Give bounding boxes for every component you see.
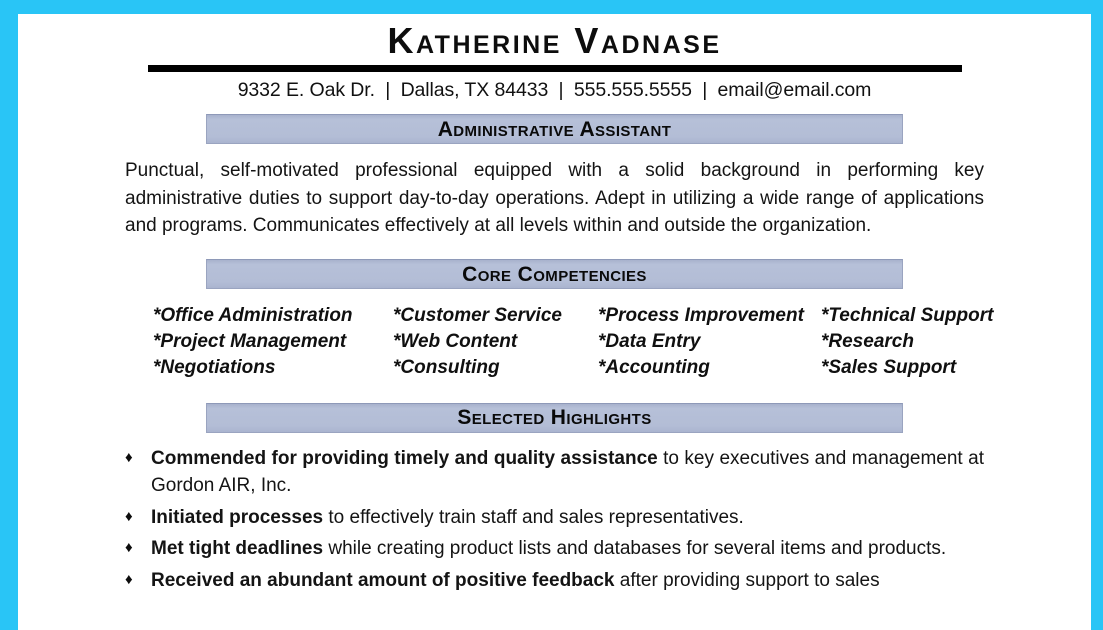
competency-column: *Process Improvement *Data Entry *Accoun… xyxy=(598,303,821,382)
highlight-text: Initiated processes to effectively train… xyxy=(151,504,984,532)
highlight-lead: Commended for providing timely and quali… xyxy=(151,448,658,469)
contact-city-state-zip: Dallas, TX 84433 xyxy=(401,79,549,101)
highlight-rest: after providing support to sales xyxy=(615,570,880,591)
contact-address: 9332 E. Oak Dr. xyxy=(238,79,375,101)
competency-item: *Research xyxy=(821,329,1021,355)
section-bar-administrative-assistant: Administrative Assistant xyxy=(206,114,903,144)
competency-column: *Customer Service *Web Content *Consulti… xyxy=(393,303,598,382)
competency-item: *Process Improvement xyxy=(598,303,821,329)
competency-column: *Technical Support *Research *Sales Supp… xyxy=(821,303,1021,382)
highlight-lead: Met tight deadlines xyxy=(151,538,323,559)
list-item: ♦ Initiated processes to effectively tra… xyxy=(125,504,984,532)
selected-highlights-list: ♦ Commended for providing timely and qua… xyxy=(125,445,984,595)
competency-item: *Technical Support xyxy=(821,303,1021,329)
competency-item: *Web Content xyxy=(393,329,598,355)
page-title: Katherine Vadnase xyxy=(18,20,1091,61)
competency-item: *Negotiations xyxy=(153,355,393,381)
highlight-lead: Received an abundant amount of positive … xyxy=(151,570,615,591)
competency-item: *Consulting xyxy=(393,355,598,381)
highlight-text: Met tight deadlines while creating produ… xyxy=(151,535,984,563)
list-item: ♦ Commended for providing timely and qua… xyxy=(125,445,984,500)
contact-separator-3: | xyxy=(697,79,712,102)
highlight-rest: to effectively train staff and sales rep… xyxy=(323,507,744,528)
competency-item: *Office Administration xyxy=(153,303,393,329)
list-item: ♦ Met tight deadlines while creating pro… xyxy=(125,535,984,563)
section-bar-label: Administrative Assistant xyxy=(438,119,672,140)
contact-email: email@email.com xyxy=(718,79,872,101)
section-bar-selected-highlights: Selected Highlights xyxy=(206,403,903,433)
competency-column: *Office Administration *Project Manageme… xyxy=(153,303,393,382)
professional-summary: Punctual, self-motivated professional eq… xyxy=(125,157,984,240)
list-item: ♦ Received an abundant amount of positiv… xyxy=(125,567,984,595)
contact-separator-1: | xyxy=(380,79,395,102)
contact-phone: 555.555.5555 xyxy=(574,79,692,101)
diamond-bullet-icon: ♦ xyxy=(125,567,151,591)
diamond-bullet-icon: ♦ xyxy=(125,445,151,469)
contact-separator-2: | xyxy=(554,79,569,102)
section-bar-core-competencies: Core Competencies xyxy=(206,259,903,289)
competency-item: *Accounting xyxy=(598,355,821,381)
page-frame: Katherine Vadnase 9332 E. Oak Dr. | Dall… xyxy=(0,0,1103,630)
diamond-bullet-icon: ♦ xyxy=(125,504,151,528)
highlight-text: Received an abundant amount of positive … xyxy=(151,567,984,595)
core-competencies-grid: *Office Administration *Project Manageme… xyxy=(18,303,1091,382)
highlight-lead: Initiated processes xyxy=(151,507,323,528)
resume-page: Katherine Vadnase 9332 E. Oak Dr. | Dall… xyxy=(18,14,1091,630)
competency-item: *Sales Support xyxy=(821,355,1021,381)
highlight-text: Commended for providing timely and quali… xyxy=(151,445,984,500)
header-divider xyxy=(148,65,962,72)
competency-item: *Project Management xyxy=(153,329,393,355)
competency-item: *Customer Service xyxy=(393,303,598,329)
highlight-rest: while creating product lists and databas… xyxy=(323,538,946,559)
diamond-bullet-icon: ♦ xyxy=(125,535,151,559)
competency-item: *Data Entry xyxy=(598,329,821,355)
contact-line: 9332 E. Oak Dr. | Dallas, TX 84433 | 555… xyxy=(18,79,1091,102)
section-bar-label: Selected Highlights xyxy=(457,407,651,428)
section-bar-label: Core Competencies xyxy=(462,264,647,285)
